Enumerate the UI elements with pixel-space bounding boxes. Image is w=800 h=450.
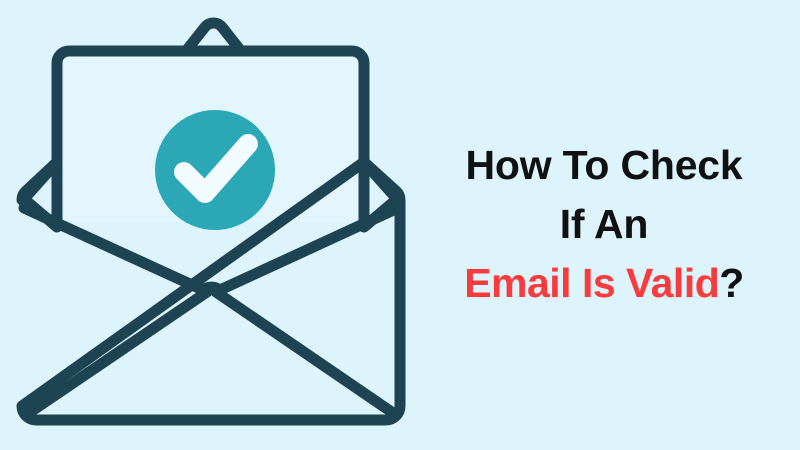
poster-canvas: How To Check If An Email Is Valid? xyxy=(0,0,800,450)
envelope-bottom-right-diagonal xyxy=(216,292,396,415)
headline-question-mark: ? xyxy=(719,260,744,306)
headline-line-3: Email Is Valid? xyxy=(430,254,778,313)
check-circle-badge xyxy=(155,110,275,230)
headline-accent-text: Email Is Valid xyxy=(464,260,719,306)
open-envelope-with-verified-letter-illustration xyxy=(0,0,430,450)
headline-line-2: If An xyxy=(430,195,778,254)
headline-line-1: How To Check xyxy=(430,136,778,195)
envelope-bottom-left-diagonal xyxy=(26,292,207,415)
headline-block: How To Check If An Email Is Valid? xyxy=(430,136,778,313)
